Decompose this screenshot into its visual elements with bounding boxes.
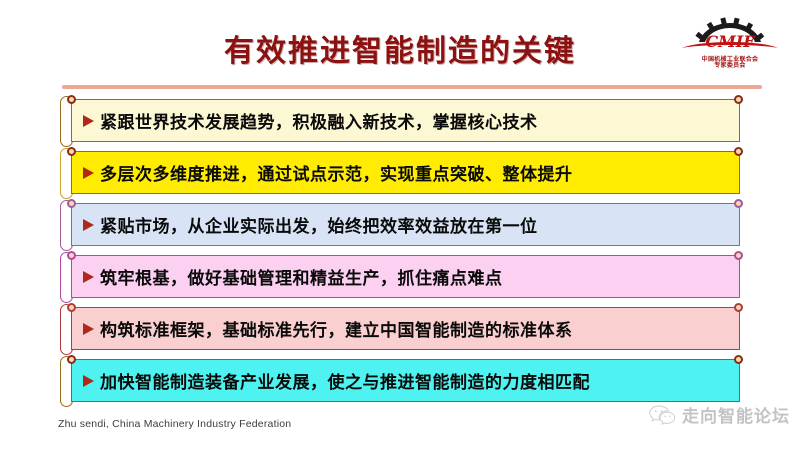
pin-left-5 (67, 303, 76, 312)
bar-body-3: 紧贴市场，从企业实际出发，始终把效率效益放在第一位 (71, 203, 740, 246)
pin-right-1 (734, 95, 743, 104)
pin-left-6 (67, 355, 76, 364)
bar-body-1: 紧跟世界技术发展趋势，积极融入新技术，掌握核心技术 (71, 99, 740, 142)
triangle-bullet-icon (83, 115, 94, 127)
pin-right-3 (734, 199, 743, 208)
presentation-slide: 有效推进智能制造的关键 CMIF 中国机械工业 (0, 0, 800, 450)
pin-left-3 (67, 199, 76, 208)
bullet-bar-3: 紧贴市场，从企业实际出发，始终把效率效益放在第一位 (60, 203, 740, 246)
bullet-bar-1: 紧跟世界技术发展趋势，积极融入新技术，掌握核心技术 (60, 99, 740, 142)
pin-left-2 (67, 147, 76, 156)
gear-icon: CMIF (678, 17, 782, 57)
watermark-text: 走向智能论坛 (682, 402, 790, 427)
cmif-logo: CMIF 中国机械工业联合会 专家委员会 (674, 12, 786, 74)
wechat-icon (649, 404, 675, 426)
bullet-text-3: 紧贴市场，从企业实际出发，始终把效率效益放在第一位 (100, 212, 538, 237)
pin-right-4 (734, 251, 743, 260)
pin-left-4 (67, 251, 76, 260)
triangle-bullet-icon (83, 167, 94, 179)
bullet-text-2: 多层次多维度推进，通过试点示范，实现重点突破、整体提升 (100, 160, 573, 185)
bar-body-2: 多层次多维度推进，通过试点示范，实现重点突破、整体提升 (71, 151, 740, 194)
bullet-text-5: 构筑标准框架，基础标准先行，建立中国智能制造的标准体系 (100, 316, 573, 341)
footer-credit: Zhu sendi, China Machinery Industry Fede… (58, 418, 291, 430)
cmif-wordmark: CMIF (705, 32, 756, 51)
bullet-text-1: 紧跟世界技术发展趋势，积极融入新技术，掌握核心技术 (100, 108, 538, 133)
pin-right-5 (734, 303, 743, 312)
bullet-bar-4: 筑牢根基，做好基础管理和精益生产，抓住痛点难点 (60, 255, 740, 298)
triangle-bullet-icon (83, 271, 94, 283)
pin-left-1 (67, 95, 76, 104)
triangle-bullet-icon (83, 219, 94, 231)
bullet-text-6: 加快智能制造装备产业发展，使之与推进智能制造的力度相匹配 (100, 368, 590, 393)
page-title: 有效推进智能制造的关键 (224, 26, 576, 70)
triangle-bullet-icon (83, 375, 94, 387)
watermark: 走向智能论坛 (649, 402, 790, 427)
bar-body-4: 筑牢根基，做好基础管理和精益生产，抓住痛点难点 (71, 255, 740, 298)
bullet-bar-6: 加快智能制造装备产业发展，使之与推进智能制造的力度相匹配 (60, 359, 740, 402)
cmif-logo-subtitle-line2: 专家委员会 (714, 62, 746, 70)
bar-body-6: 加快智能制造装备产业发展，使之与推进智能制造的力度相匹配 (71, 359, 740, 402)
bullet-text-4: 筑牢根基，做好基础管理和精益生产，抓住痛点难点 (100, 264, 503, 289)
pin-right-6 (734, 355, 743, 364)
bullet-bar-5: 构筑标准框架，基础标准先行，建立中国智能制造的标准体系 (60, 307, 740, 350)
cmif-logo-mark: CMIF (678, 17, 782, 57)
triangle-bullet-icon (83, 323, 94, 335)
bullet-bar-2: 多层次多维度推进，通过试点示范，实现重点突破、整体提升 (60, 151, 740, 194)
pin-right-2 (734, 147, 743, 156)
title-divider (62, 85, 762, 89)
bullet-bar-list: 紧跟世界技术发展趋势，积极融入新技术，掌握核心技术 多层次多维度推进，通过试点示… (60, 99, 740, 411)
bar-body-5: 构筑标准框架，基础标准先行，建立中国智能制造的标准体系 (71, 307, 740, 350)
